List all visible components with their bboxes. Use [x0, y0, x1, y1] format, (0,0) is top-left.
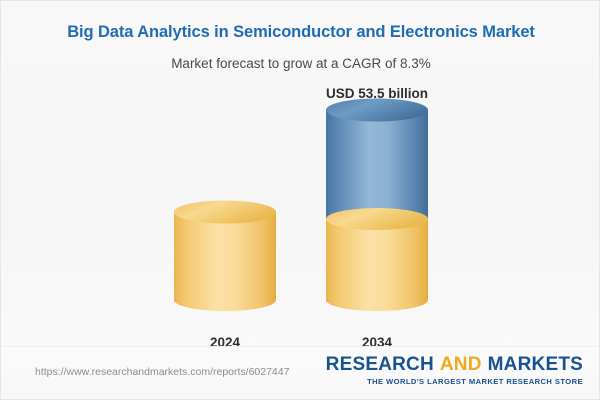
brand-word-research: RESEARCH	[326, 354, 434, 375]
page-title: Big Data Analytics in Semiconductor and …	[1, 23, 600, 42]
brand-wordmark: RESEARCHANDMARKETS	[326, 355, 583, 374]
brand-word-markets: MARKETS	[488, 354, 583, 375]
chart-plot-area: USD 23.6 billion	[1, 86, 600, 346]
brand-tagline: THE WORLD'S LARGEST MARKET RESEARCH STOR…	[326, 378, 583, 386]
bar-column-2034: USD 53.5 billion	[326, 86, 428, 346]
cylinder-shape-2024	[165, 198, 285, 318]
brand-logo[interactable]: RESEARCHANDMARKETS THE WORLD'S LARGEST M…	[326, 355, 583, 386]
footer-bar: https://www.researchandmarkets.com/repor…	[1, 346, 600, 399]
source-url-link[interactable]: https://www.researchandmarkets.com/repor…	[35, 366, 289, 378]
infographic-canvas: Big Data Analytics in Semiconductor and …	[0, 0, 600, 400]
bar-column-2024: USD 23.6 billion	[174, 121, 276, 346]
brand-word-and: AND	[440, 354, 482, 375]
cylinder-shape-2034	[317, 96, 437, 318]
chart-subtitle: Market forecast to grow at a CAGR of 8.3…	[1, 56, 600, 71]
